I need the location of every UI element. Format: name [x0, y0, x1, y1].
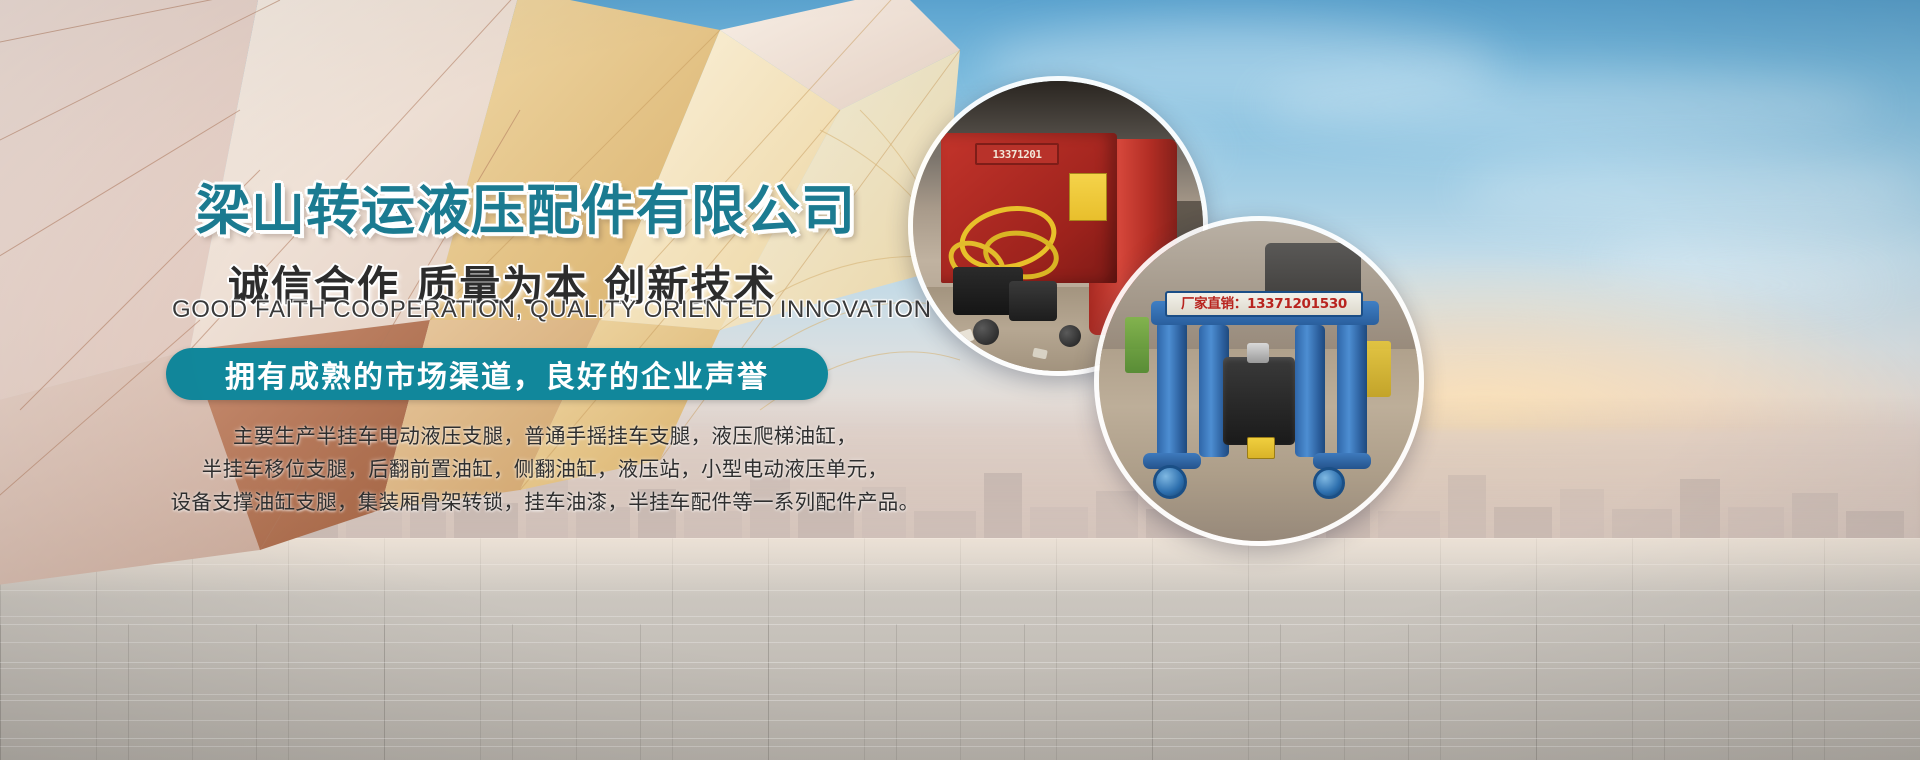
slogan-english: GOOD FAITH COOPERATION, QUALITY ORIENTED… [172, 296, 932, 324]
highlight-pill-text: 拥有成熟的市场渠道，良好的企业声誉 [225, 352, 769, 396]
description-line-2: 半挂车移位支腿，后翻前置油缸，侧翻油缸，液压站，小型电动液压单元， [150, 453, 940, 486]
factory-direct-sign: 厂家直销：13371201530 [1165, 291, 1363, 317]
description-line-1: 主要生产半挂车电动液压支腿，普通手摇挂车支腿，液压爬梯油缸， [150, 420, 940, 453]
blue-hydraulic-landing-gear-photo: 厂家直销：13371201530 [1094, 216, 1424, 546]
company-title: 梁山转运液压配件有限公司 [196, 166, 896, 245]
machine-plate-text: 13371201 [975, 143, 1059, 165]
description-line-3: 设备支撑油缸支腿，集装厢骨架转锁，挂车油漆，半挂车配件等一系列配件产品。 [150, 486, 940, 519]
cloud-decoration [1460, 150, 1920, 230]
highlight-pill: 拥有成熟的市场渠道，良好的企业声誉 [166, 348, 828, 400]
cloud-decoration [1260, 70, 1880, 140]
product-description: 主要生产半挂车电动液压支腿，普通手摇挂车支腿，液压爬梯油缸， 半挂车移位支腿，后… [150, 420, 940, 519]
promo-banner: 梁山转运液压配件有限公司 诚信合作 质量为本 创新技术 GOOD FAITH C… [0, 0, 1920, 760]
text-content-block: 梁山转运液压配件有限公司 诚信合作 质量为本 创新技术 GOOD FAITH C… [0, 0, 1060, 760]
